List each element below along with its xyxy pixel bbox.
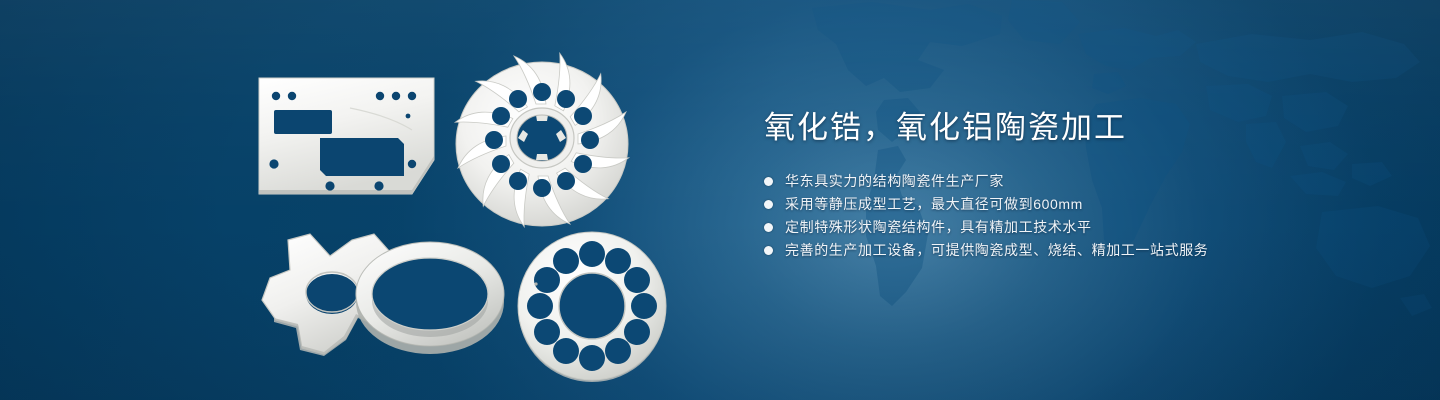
ceramic-ring-image [338, 228, 522, 370]
feature-text: 完善的生产加工设备，可提供陶瓷成型、烧结、精加工一站式服务 [785, 239, 1208, 262]
promo-banner: 氧化锆，氧化铝陶瓷加工 华东具实力的结构陶瓷件生产厂家 采用等静压成型工艺，最大… [0, 0, 1440, 400]
list-item: 华东具实力的结构陶瓷件生产厂家 [764, 170, 1364, 193]
bullet-dot-icon [764, 200, 773, 209]
ceramic-impeller-image [448, 48, 636, 234]
ceramic-perforated-disc-image [512, 226, 672, 386]
list-item: 采用等静压成型工艺，最大直径可做到600mm [764, 193, 1364, 216]
list-item: 完善的生产加工设备，可提供陶瓷成型、烧结、精加工一站式服务 [764, 239, 1364, 262]
bullet-dot-icon [764, 223, 773, 232]
ceramic-plate-image [252, 72, 442, 200]
bullet-dot-icon [764, 177, 773, 186]
product-photo-group [0, 0, 720, 400]
feature-text: 定制特殊形状陶瓷结构件，具有精加工技术水平 [785, 216, 1092, 239]
bullet-dot-icon [764, 246, 773, 255]
feature-text: 采用等静压成型工艺，最大直径可做到600mm [785, 193, 1083, 216]
banner-text-block: 氧化锆，氧化铝陶瓷加工 华东具实力的结构陶瓷件生产厂家 采用等静压成型工艺，最大… [764, 108, 1364, 262]
list-item: 定制特殊形状陶瓷结构件，具有精加工技术水平 [764, 216, 1364, 239]
banner-feature-list: 华东具实力的结构陶瓷件生产厂家 采用等静压成型工艺，最大直径可做到600mm 定… [764, 170, 1364, 262]
feature-text: 华东具实力的结构陶瓷件生产厂家 [785, 170, 1004, 193]
banner-title: 氧化锆，氧化铝陶瓷加工 [764, 108, 1364, 148]
